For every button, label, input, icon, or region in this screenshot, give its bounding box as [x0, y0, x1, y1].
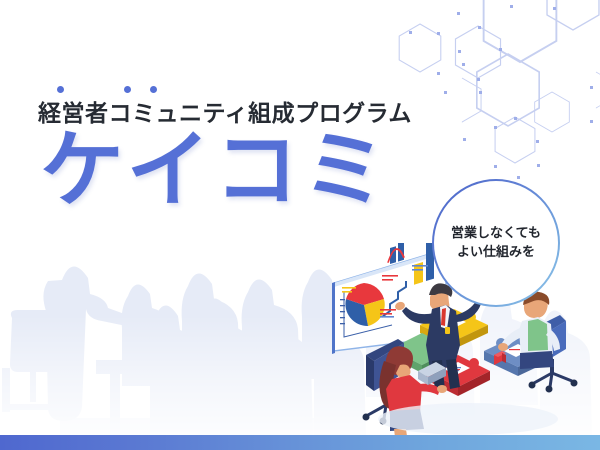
- emphasis-dot: [150, 86, 157, 93]
- speech-bubble-text: 営業しなくても よい仕組みを: [451, 224, 541, 262]
- promotional-banner: 経営者コミュニティ組成プログラム ケイコミ: [0, 0, 600, 450]
- column-chart: [388, 243, 404, 264]
- page-title: ケイコミ: [40, 128, 390, 212]
- speech-bubble: 営業しなくても よい仕組みを: [432, 179, 560, 307]
- emphasis-dot: [124, 86, 131, 93]
- emphasis-dot: [57, 86, 64, 93]
- gradient-footer-bar: [0, 435, 600, 450]
- headline-block: 経営者コミュニティ組成プログラム ケイコミ: [38, 84, 412, 118]
